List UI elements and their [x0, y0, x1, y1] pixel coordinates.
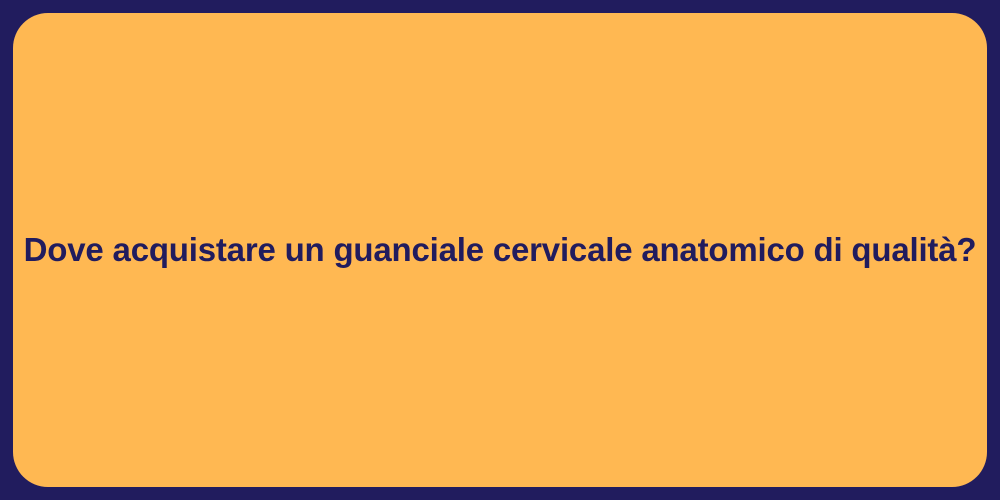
banner-card: Dove acquistare un guanciale cervicale a… — [13, 13, 987, 487]
banner-frame: Dove acquistare un guanciale cervicale a… — [0, 0, 1000, 500]
banner-headline: Dove acquistare un guanciale cervicale a… — [24, 229, 977, 270]
